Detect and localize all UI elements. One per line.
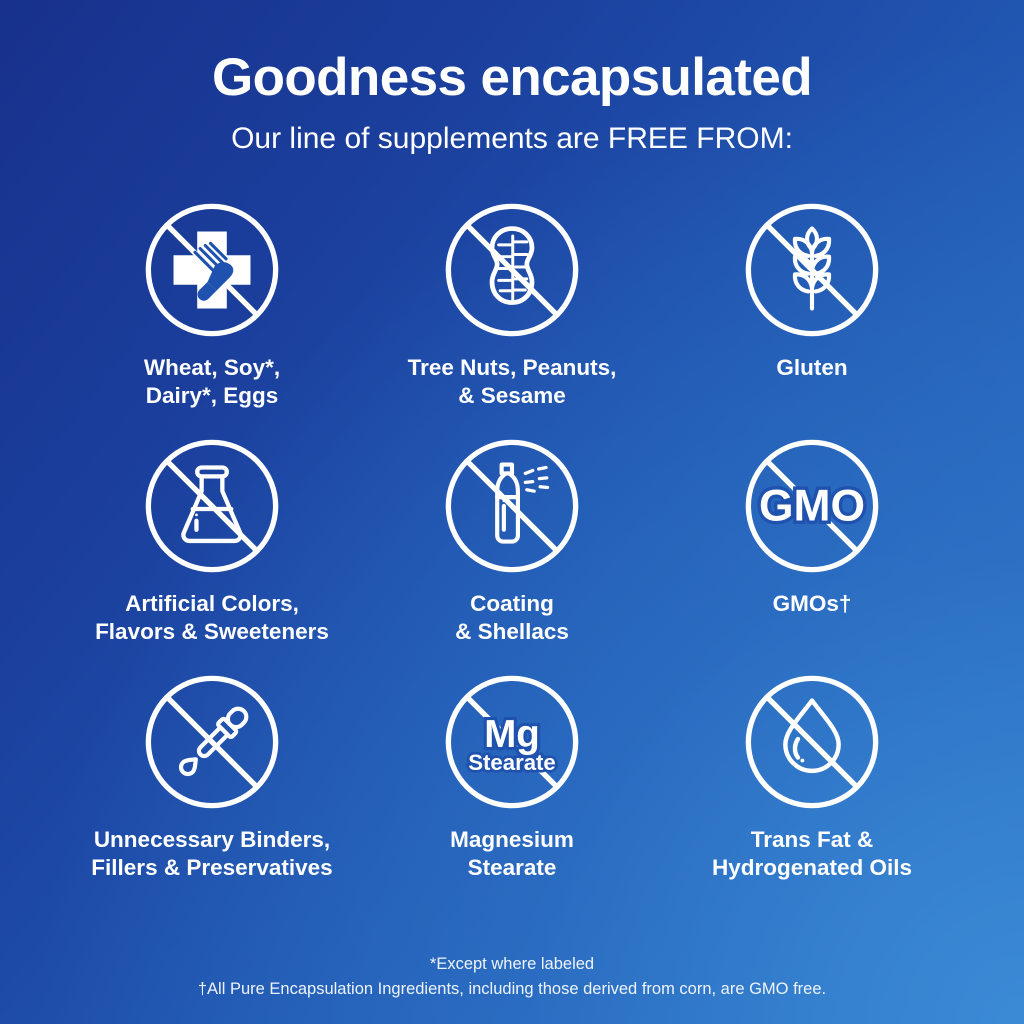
grid-item-nuts: Tree Nuts, Peanuts, & Sesame xyxy=(362,196,662,432)
grid-item-label: Tree Nuts, Peanuts, & Sesame xyxy=(408,354,617,411)
footnotes: *Except where labeled †All Pure Encapsul… xyxy=(0,952,1024,1002)
no-allergen-cross-fork-icon xyxy=(138,196,286,344)
grid-item-label: Coating & Shellacs xyxy=(455,590,569,647)
no-magnesium-stearate-text-icon: Mg Stearate xyxy=(438,668,586,816)
grid-item-label: Magnesium Stearate xyxy=(450,826,574,883)
grid-item-magnesium-stearate: Mg Stearate Magnesium Stearate xyxy=(362,668,662,904)
page-title: Goodness encapsulated xyxy=(0,0,1024,106)
grid-item-trans-fat: Trans Fat & Hydrogenated Oils xyxy=(662,668,962,904)
free-from-grid: Wheat, Soy*, Dairy*, Eggs xyxy=(62,196,962,904)
no-oil-droplet-icon xyxy=(738,668,886,816)
grid-item-gluten: Gluten xyxy=(662,196,962,432)
grid-item-artificial-colors: Artificial Colors, Flavors & Sweeteners xyxy=(62,432,362,668)
no-peanut-icon xyxy=(438,196,586,344)
footnote-except-where-labeled: *Except where labeled xyxy=(0,952,1024,977)
poster: Goodness encapsulated Our line of supple… xyxy=(0,0,1024,1024)
grid-item-label: Artificial Colors, Flavors & Sweeteners xyxy=(95,590,329,647)
no-wheat-stalk-icon xyxy=(738,196,886,344)
grid-item-binders: Unnecessary Binders, Fillers & Preservat… xyxy=(62,668,362,904)
grid-item-label: Wheat, Soy*, Dairy*, Eggs xyxy=(144,354,280,411)
gmo-icon-text: GMO xyxy=(759,482,865,531)
page-subtitle: Our line of supplements are FREE FROM: xyxy=(0,106,1024,155)
grid-item-label: Trans Fat & Hydrogenated Oils xyxy=(712,826,912,883)
no-spray-can-icon xyxy=(438,432,586,580)
grid-item-label: GMOs† xyxy=(773,590,852,618)
no-gmo-text-icon: GMO xyxy=(738,432,886,580)
grid-item-label: Unnecessary Binders, Fillers & Preservat… xyxy=(91,826,332,883)
stearate-icon-text: Stearate xyxy=(468,750,556,775)
grid-item-coating: Coating & Shellacs xyxy=(362,432,662,668)
header: Goodness encapsulated Our line of supple… xyxy=(0,0,1024,155)
grid-item-gmo: GMO GMOs† xyxy=(662,432,962,668)
grid-item-label: Gluten xyxy=(776,354,847,382)
no-dropper-pipette-icon xyxy=(138,668,286,816)
grid-item-allergens: Wheat, Soy*, Dairy*, Eggs xyxy=(62,196,362,432)
footnote-gmo-free: †All Pure Encapsulation Ingredients, inc… xyxy=(0,977,1024,1002)
no-flask-icon xyxy=(138,432,286,580)
